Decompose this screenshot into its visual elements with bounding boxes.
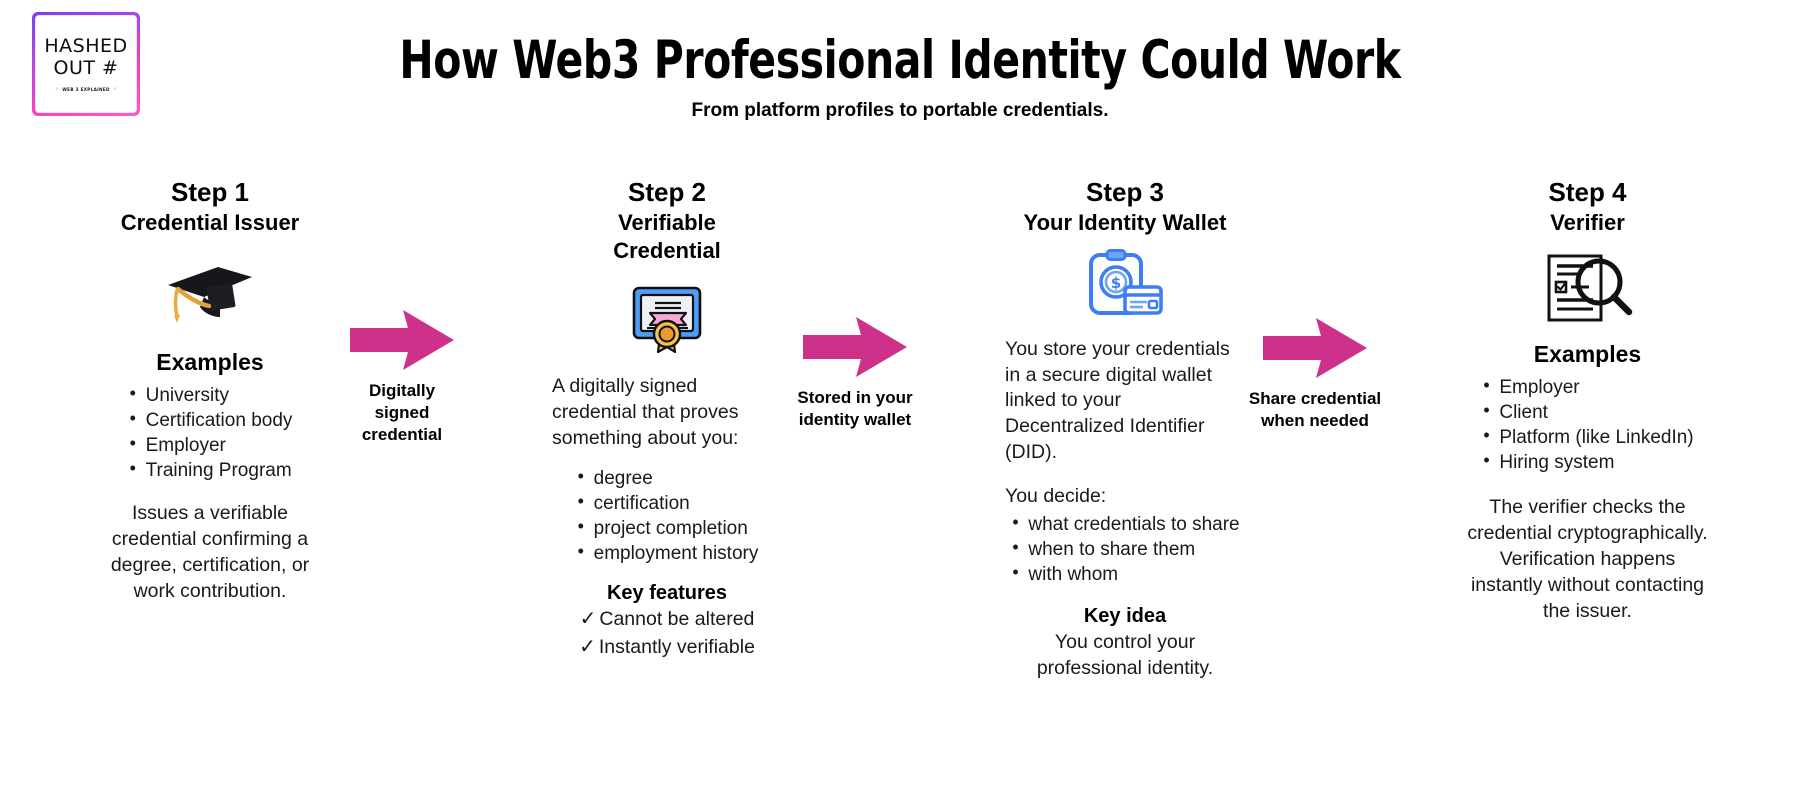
list-item: when to share them [1010,537,1239,562]
step-1-examples-list: University Certification body Employer T… [128,383,293,483]
step-1-subtitle: Credential Issuer [95,209,325,237]
step-2-key-item-1-label: Cannot be altered [599,607,754,633]
step-1-title: Step 1 [95,178,325,207]
brand-logo-line1: HASHED [44,36,127,57]
arrow-right-icon [803,317,907,377]
step-4-subtitle: Verifier [1465,209,1710,237]
list-item: Platform (like LinkedIn) [1481,425,1693,450]
list-item: Employer [1481,375,1693,400]
brand-logo-tagline: WEB 3 EXPLAINED [62,87,109,92]
step-3-decide-list: what credentials to share when to share … [1010,512,1239,587]
step-4-paragraph: The verifier checks the credential crypt… [1465,495,1710,625]
step-2-title: Step 2 [552,178,782,207]
step-3-icon-wrap: $ [1005,249,1245,321]
check-icon: ✓ [580,605,597,632]
step-2-key-item-2-label: Instantly verifiable [599,635,755,661]
step-4-title: Step 4 [1465,178,1710,207]
step-3-key-heading: Key idea [1005,605,1245,628]
brand-logo-line2: OUT # [54,58,119,79]
flow-arrow-3: Share credential when needed [1255,318,1375,432]
flow-arrow-1-label: Digitally signed credential [342,380,462,446]
list-item: certification [576,491,759,516]
chevron-right-icon: » [114,87,117,92]
step-1-paragraph: Issues a verifiable credential confirmin… [95,501,325,605]
page-title: How Web3 Professional Identity Could Wor… [126,30,1674,91]
list-item: employment history [576,541,759,566]
arrow-right-icon [1263,318,1367,378]
step-column-4: Step 4 Verifier Examples Employer Client… [1465,178,1710,625]
arrow-right-icon [350,310,454,370]
chevron-left-icon: « [55,87,58,92]
list-item: project completion [576,516,759,541]
list-item: University [128,383,293,408]
step-column-3: Step 3 Your Identity Wallet $ You store … [1005,178,1245,682]
step-4-icon-wrap [1465,251,1710,325]
flow-arrow-2: Stored in your identity wallet [795,317,915,431]
check-icon: ✓ [579,633,596,660]
step-2-paragraph: A digitally signed credential that prove… [552,374,782,452]
graduation-cap-icon [164,263,256,325]
step-3-title: Step 3 [1005,178,1245,207]
step-2-key-heading: Key features [552,582,782,605]
page-subtitle: From platform profiles to portable crede… [0,100,1800,122]
svg-text:$: $ [1111,274,1121,292]
step-2-key-item-2: ✓ Instantly verifiable [552,633,782,661]
list-item: degree [576,466,759,491]
certificate-icon [628,278,706,356]
step-3-subtitle: Your Identity Wallet [1005,209,1245,237]
step-3-decide-heading: You decide: [1005,484,1245,510]
step-4-examples-list: Employer Client Platform (like LinkedIn)… [1481,375,1693,475]
list-item: Hiring system [1481,450,1693,475]
step-2-icon-wrap [552,278,782,356]
list-item: what credentials to share [1010,512,1239,537]
list-item: Employer [128,433,293,458]
list-item: with whom [1010,562,1239,587]
step-1-examples-heading: Examples [95,349,325,376]
list-item: Certification body [128,408,293,433]
document-magnifier-icon [1541,252,1635,324]
step-3-paragraph: You store your credentials in a secure d… [1005,337,1245,467]
brand-logo-inner: HASHED OUT # « WEB 3 EXPLAINED » [35,15,137,113]
step-2-subtitle: Verifiable Credential [552,209,782,264]
step-4-examples-heading: Examples [1465,341,1710,368]
step-3-key-text: You control your professional identity. [1005,630,1245,682]
identity-wallet-icon: $ [1085,249,1165,321]
step-column-1: Step 1 Credential Issuer Examples Univer… [95,178,325,605]
flow-arrow-2-label: Stored in your identity wallet [795,387,915,431]
flow-arrow-1: Digitally signed credential [342,310,462,446]
step-2-proves-list: degree certification project completion … [576,466,759,566]
step-2-key-item-1: ✓ Cannot be altered [552,605,782,633]
brand-logo-tagline-row: « WEB 3 EXPLAINED » [55,87,116,92]
step-column-2: Step 2 Verifiable Credential A digitally… [552,178,782,661]
list-item: Client [1481,400,1693,425]
list-item: Training Program [128,458,293,483]
flow-arrow-3-label: Share credential when needed [1235,388,1395,432]
step-1-icon-wrap [95,255,325,333]
